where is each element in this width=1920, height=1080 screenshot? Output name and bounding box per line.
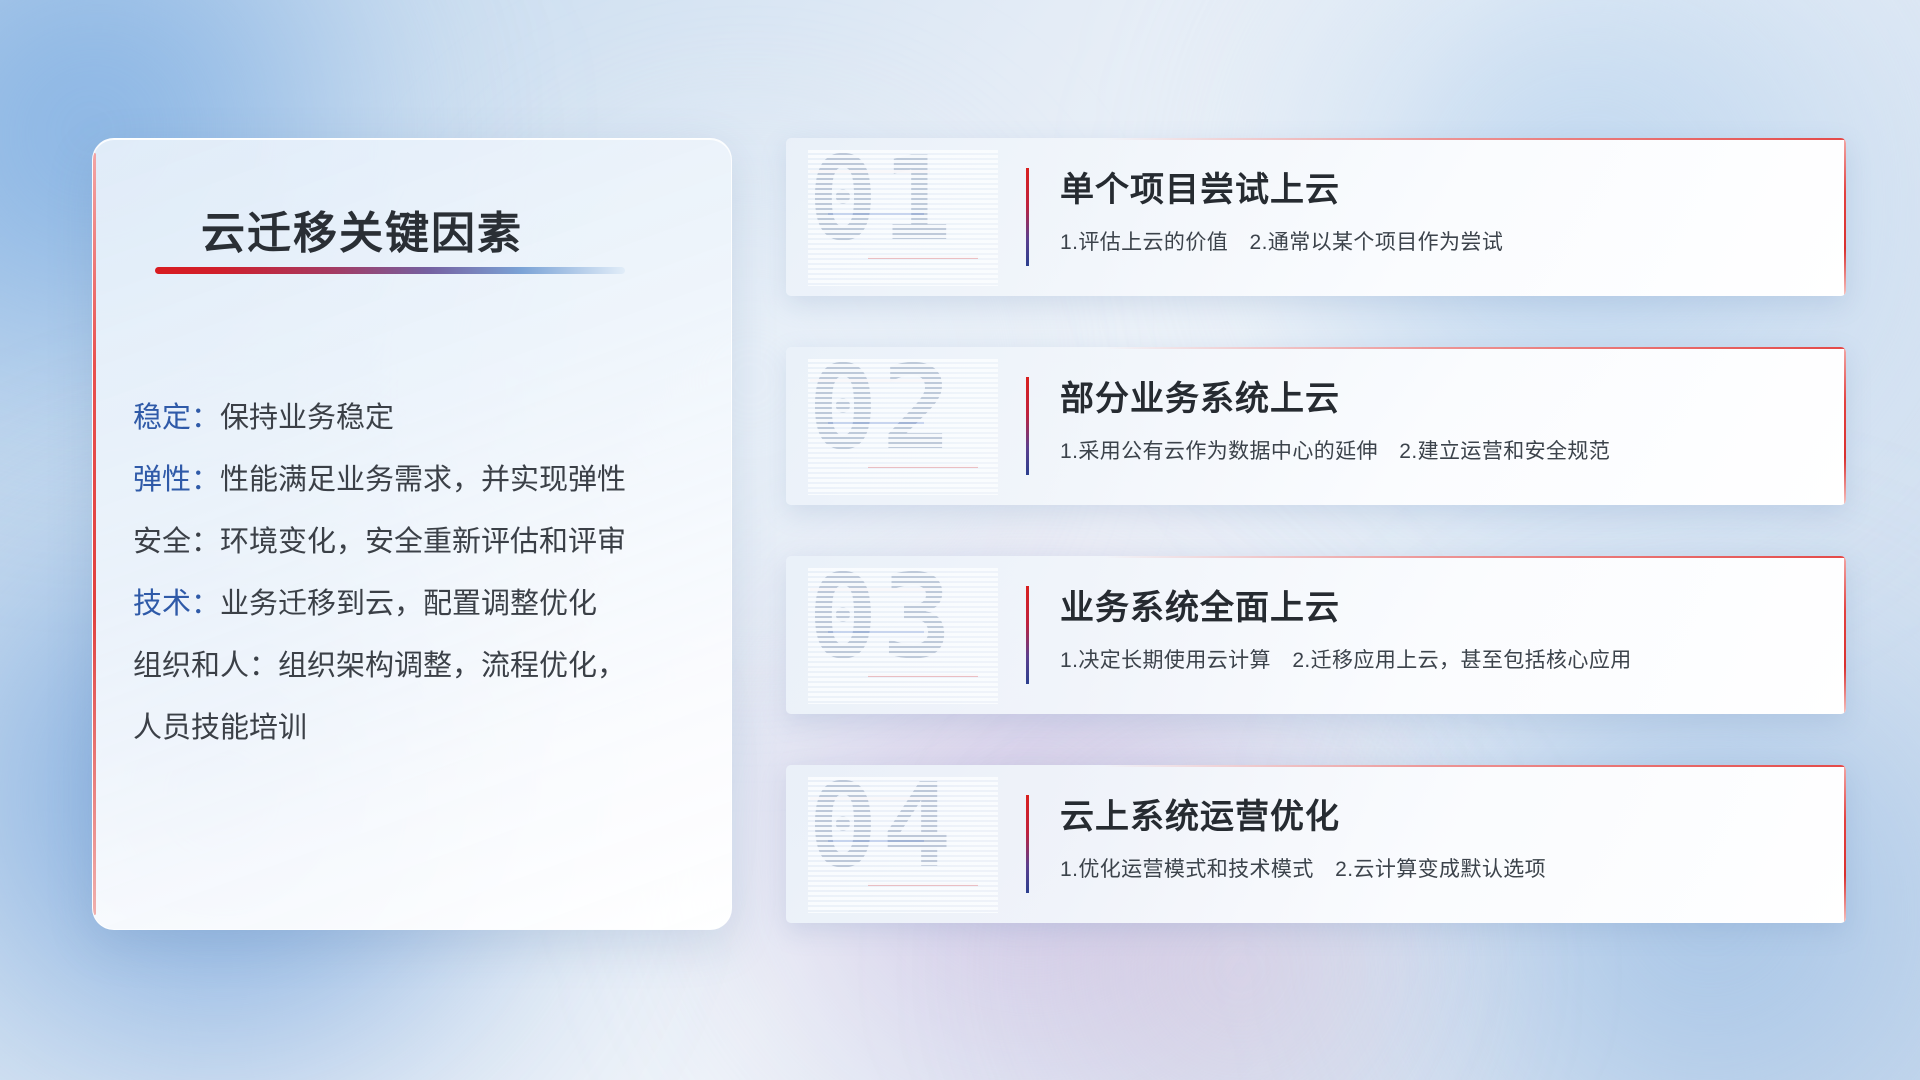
factor-text: 保持业务稳定 bbox=[220, 402, 394, 434]
card-divider-bar bbox=[1026, 795, 1029, 893]
list-item: 人员技能培训 bbox=[133, 697, 707, 759]
stage-number-badge: 04 bbox=[808, 775, 998, 913]
factor-text: 环境变化，安全重新评估和评审 bbox=[220, 526, 626, 558]
factor-label: 安全： bbox=[133, 526, 220, 558]
card-subtitle: 1.优化运营模式和技术模式 2.云计算变成默认选项 bbox=[1060, 853, 1546, 883]
stage-number-tint-red-top bbox=[810, 797, 930, 800]
factor-label: 稳定： bbox=[133, 402, 220, 434]
stage-number-tint-red-top bbox=[810, 170, 930, 173]
card-subtitle: 1.采用公有云作为数据中心的延伸 2.建立运营和安全规范 bbox=[1060, 435, 1610, 465]
key-factors-panel: 云迁移关键因素 稳定：保持业务稳定 弹性：性能满足业务需求，并实现弹性 安全：环… bbox=[92, 138, 732, 930]
slide-stage: 云迁移关键因素 稳定：保持业务稳定 弹性：性能满足业务需求，并实现弹性 安全：环… bbox=[0, 0, 1920, 1080]
stage-number-badge: 03 bbox=[808, 566, 998, 704]
stage-card[interactable]: 02 部分业务系统上云 1.采用公有云作为数据中心的延伸 2.建立运营和安全规范 bbox=[786, 347, 1846, 505]
list-item: 组织和人：组织架构调整，流程优化， bbox=[133, 635, 707, 697]
stage-number-text: 01 bbox=[808, 148, 956, 258]
stage-number-tint-red-top bbox=[810, 588, 930, 591]
stage-number-tint-red-bottom bbox=[868, 256, 978, 259]
page-title: 云迁移关键因素 bbox=[201, 197, 523, 261]
factor-label: 组织和人： bbox=[133, 650, 278, 682]
stage-number-tint-red-bottom bbox=[868, 883, 978, 886]
stage-number-badge: 02 bbox=[808, 357, 998, 495]
list-item: 稳定：保持业务稳定 bbox=[133, 387, 707, 449]
card-title: 单个项目尝试上云 bbox=[1060, 162, 1340, 211]
card-subtitle: 1.评估上云的价值 2.通常以某个项目作为尝试 bbox=[1060, 226, 1503, 256]
card-subtitle: 1.决定长期使用云计算 2.迁移应用上云，甚至包括核心应用 bbox=[1060, 644, 1632, 674]
stage-number-tint-blue bbox=[828, 212, 924, 215]
stage-number-tint-red-bottom bbox=[868, 674, 978, 677]
stage-number-tint-red-top bbox=[810, 379, 930, 382]
stage-number-tint-blue bbox=[828, 630, 924, 633]
stage-number-tint-blue bbox=[828, 839, 924, 842]
factor-text: 业务迁移到云，配置调整优化 bbox=[220, 588, 597, 620]
card-title: 部分业务系统上云 bbox=[1060, 371, 1340, 420]
factor-text: 组织架构调整，流程优化， bbox=[278, 650, 626, 682]
factor-label: 弹性： bbox=[133, 464, 220, 496]
stage-number-text: 04 bbox=[808, 775, 956, 885]
stage-card[interactable]: 04 云上系统运营优化 1.优化运营模式和技术模式 2.云计算变成默认选项 bbox=[786, 765, 1846, 923]
stage-number-text: 03 bbox=[808, 566, 956, 676]
title-underline-accent bbox=[155, 267, 625, 274]
stage-card-list: 01 单个项目尝试上云 1.评估上云的价值 2.通常以某个项目作为尝试 02 部… bbox=[786, 138, 1846, 974]
card-divider-bar bbox=[1026, 377, 1029, 475]
list-item: 弹性：性能满足业务需求，并实现弹性 bbox=[133, 449, 707, 511]
stage-number-tint-blue bbox=[828, 421, 924, 424]
stage-card[interactable]: 01 单个项目尝试上云 1.评估上云的价值 2.通常以某个项目作为尝试 bbox=[786, 138, 1846, 296]
card-title: 业务系统全面上云 bbox=[1060, 580, 1340, 629]
factor-text: 人员技能培训 bbox=[133, 712, 307, 744]
list-item: 安全：环境变化，安全重新评估和评审 bbox=[133, 511, 707, 573]
stage-number-text: 02 bbox=[808, 357, 956, 467]
card-title: 云上系统运营优化 bbox=[1060, 789, 1340, 838]
stage-number-badge: 01 bbox=[808, 148, 998, 286]
list-item: 技术：业务迁移到云，配置调整优化 bbox=[133, 573, 707, 635]
factor-label: 技术： bbox=[133, 588, 220, 620]
card-divider-bar bbox=[1026, 586, 1029, 684]
stage-card[interactable]: 03 业务系统全面上云 1.决定长期使用云计算 2.迁移应用上云，甚至包括核心应… bbox=[786, 556, 1846, 714]
factor-text: 性能满足业务需求，并实现弹性 bbox=[220, 464, 626, 496]
stage-number-tint-red-bottom bbox=[868, 465, 978, 468]
card-divider-bar bbox=[1026, 168, 1029, 266]
factor-list: 稳定：保持业务稳定 弹性：性能满足业务需求，并实现弹性 安全：环境变化，安全重新… bbox=[133, 387, 707, 759]
